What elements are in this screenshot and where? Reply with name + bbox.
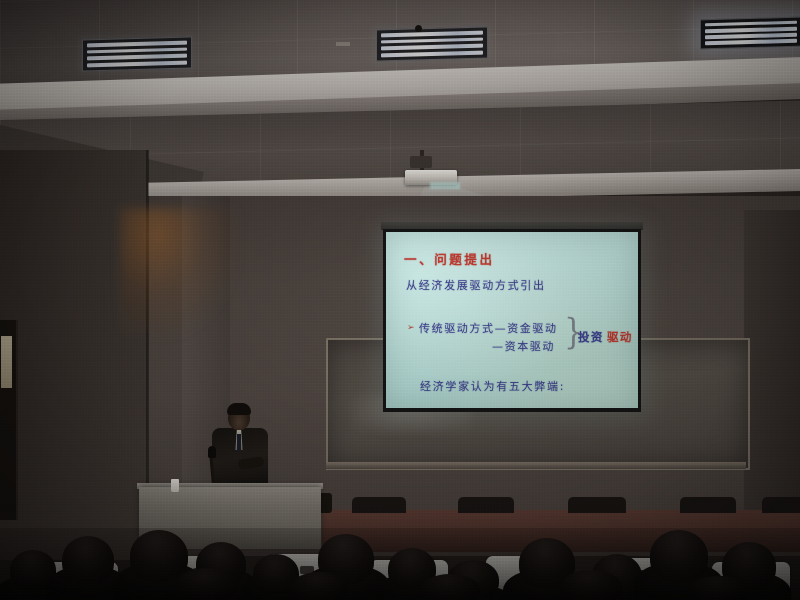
whiteboard-marker-tray [326, 462, 746, 469]
audience-head [62, 536, 114, 584]
water-cup [171, 479, 179, 492]
fluorescent-tube [381, 44, 482, 51]
fluorescent-tube [381, 31, 482, 38]
slide-bullet-line-1: 传统驱动方式—资金驱动 [419, 320, 558, 336]
fluorescent-tube [705, 27, 797, 33]
slide-bullet-line-2: —资本驱动 [492, 338, 555, 354]
stage-chair-back [568, 497, 626, 513]
fluorescent-tube [381, 37, 482, 44]
audience-head [650, 530, 708, 582]
microphone-icon [208, 446, 216, 458]
slide-subheading: 从经济发展驱动方式引出 [406, 277, 546, 293]
fluorescent-tube [705, 21, 797, 27]
speaker-tie [237, 434, 241, 451]
fluorescent-tube [87, 54, 186, 61]
fluorescent-tube [705, 33, 797, 39]
fluorescent-tube [381, 50, 482, 57]
speaker-hair [227, 403, 251, 415]
stage-chair-back [680, 497, 736, 513]
door-window-pane [1, 336, 12, 388]
fluorescent-tube [87, 41, 186, 48]
lecture-hall-photo: 一、问题提出 从经济发展驱动方式引出 ➢ 传统驱动方式—资金驱动 —资本驱动 }… [0, 0, 800, 600]
projector-lens-glow [430, 182, 460, 189]
ceiling-light-center [376, 26, 488, 61]
slide-heading: 一、问题提出 [404, 249, 495, 268]
fluorescent-tube [705, 39, 797, 45]
audience-head [176, 568, 238, 600]
slide-result-text-blue: 投资 [578, 329, 604, 345]
audience-head [690, 576, 748, 600]
ceiling-light-right [700, 17, 800, 50]
slide-result-text-red: 驱动 [607, 329, 633, 345]
audience-head [130, 530, 188, 582]
audience-head [420, 574, 480, 600]
ceiling-vent [336, 42, 350, 46]
arrow-bullet-icon: ➢ [407, 323, 415, 333]
stage-chair-back [352, 497, 406, 513]
ceiling-light-left [82, 36, 192, 71]
fluorescent-tube [87, 60, 186, 67]
slide-footer-text: 经济学家认为有五大弊端: [420, 378, 565, 394]
audience-head [560, 570, 622, 600]
projection-screen: 一、问题提出 从经济发展驱动方式引出 ➢ 传统驱动方式—资金驱动 —资本驱动 }… [386, 232, 638, 408]
fluorescent-tube [87, 47, 186, 54]
stage-chair-back [762, 497, 800, 513]
wall-lamp-glow [120, 208, 240, 338]
stage-chair-back [458, 497, 514, 513]
projector-bracket [410, 156, 432, 168]
smoke-detector-icon [415, 25, 422, 32]
right-wall [744, 210, 800, 540]
audience-head [290, 572, 348, 600]
audience-area [0, 528, 800, 600]
